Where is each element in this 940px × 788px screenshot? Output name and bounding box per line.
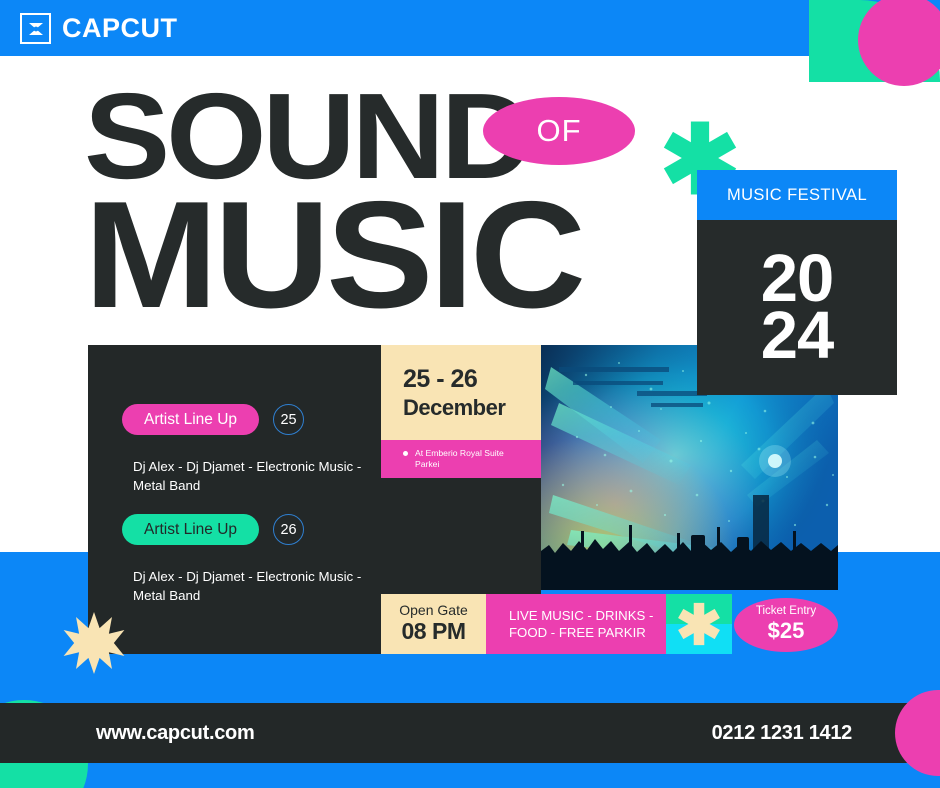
venue-text: At Emberio Royal Suite Parkei bbox=[415, 448, 520, 469]
open-gate-block: Open Gate 08 PM bbox=[381, 594, 486, 654]
date-days: 25 - 26 bbox=[403, 365, 477, 394]
lineup-pill-26[interactable]: Artist Line Up bbox=[122, 514, 259, 545]
open-gate-label: Open Gate bbox=[399, 603, 468, 618]
lineup-day-25: 25 bbox=[273, 404, 304, 435]
date-card: 25 - 26 December bbox=[381, 345, 541, 440]
lineup-artists-25: Dj Alex - Dj Djamet - Electronic Music -… bbox=[133, 458, 363, 496]
capcut-bowtie-icon bbox=[20, 13, 51, 44]
brand-name: CAPCUT bbox=[62, 11, 178, 45]
lineup-row: Artist Line Up 25 bbox=[122, 404, 304, 435]
footer-bar: www.capcut.com 0212 1231 1412 bbox=[0, 703, 940, 763]
ticket-price: $25 bbox=[768, 618, 805, 644]
open-gate-time: 08 PM bbox=[402, 618, 466, 644]
lineup-artists-26: Dj Alex - Dj Djamet - Electronic Music -… bbox=[133, 568, 363, 606]
date-month: December bbox=[403, 395, 505, 421]
features-text: LIVE MUSIC - DRINKS - FOOD - FREE PARKIR bbox=[486, 607, 659, 641]
festival-badge: MUSIC FESTIVAL 20 24 bbox=[697, 170, 897, 395]
bullet-dot-icon bbox=[403, 451, 408, 456]
star-burst-icon bbox=[63, 612, 125, 674]
ticket-price-badge[interactable]: Ticket Entry $25 bbox=[734, 598, 838, 652]
features-block: LIVE MUSIC - DRINKS - FOOD - FREE PARKIR bbox=[486, 594, 666, 654]
of-pill-badge: OF bbox=[483, 97, 635, 165]
asterisk-icon-cream bbox=[677, 601, 721, 647]
festival-label: MUSIC FESTIVAL bbox=[697, 170, 897, 220]
poster-canvas: CAPCUT SOUND MUSIC OF MUSIC FESTIVAL 20 … bbox=[0, 0, 940, 788]
year-bottom: 24 bbox=[761, 308, 834, 364]
footer-website[interactable]: www.capcut.com bbox=[96, 722, 254, 745]
venue-strip: At Emberio Royal Suite Parkei bbox=[381, 440, 541, 478]
festival-year: 20 24 bbox=[697, 220, 897, 395]
ticket-label: Ticket Entry bbox=[756, 605, 816, 618]
brand-bar: CAPCUT bbox=[0, 0, 940, 56]
headline-line-2: MUSIC bbox=[84, 186, 582, 326]
asterisk-block bbox=[666, 594, 732, 654]
lineup-pill-25[interactable]: Artist Line Up bbox=[122, 404, 259, 435]
footer-phone[interactable]: 0212 1231 1412 bbox=[712, 722, 852, 745]
lineup-day-26: 26 bbox=[273, 514, 304, 545]
of-label: OF bbox=[483, 97, 635, 165]
lineup-row: Artist Line Up 26 bbox=[122, 514, 304, 545]
